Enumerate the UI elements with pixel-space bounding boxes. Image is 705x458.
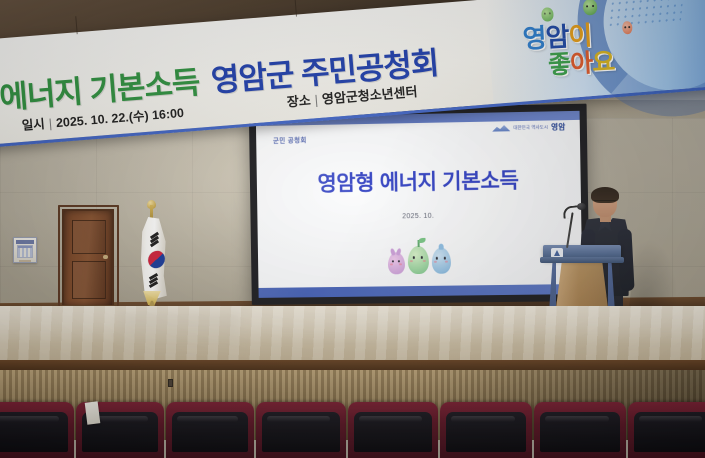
banner-separator: | — [48, 117, 52, 131]
door-knob-icon[interactable] — [103, 255, 108, 259]
mascot-cheek — [390, 263, 393, 265]
slide-logo-subtext: 대한민국 역사도시 — [513, 124, 548, 131]
mascot-green — [407, 246, 428, 274]
mascot-eye — [413, 256, 415, 259]
stage-side-door[interactable] — [62, 209, 114, 305]
audience-seat[interactable] — [348, 402, 438, 458]
audience-seat[interactable] — [534, 402, 626, 458]
seat-highlight — [639, 416, 702, 422]
door-panel-lower — [72, 261, 106, 299]
seat-highlight — [177, 416, 239, 422]
slide-county-logo: 대한민국 역사도시 영암 — [492, 121, 566, 133]
yeongam-slogan-logo: 영암이 좋아요 — [517, 0, 651, 87]
banner-date-label: 일시 — [21, 117, 45, 133]
slide-date: 2025. 10. — [257, 210, 581, 222]
eyeglasses-icon — [594, 200, 616, 205]
mascot-body — [387, 252, 404, 274]
mascot-eye — [421, 256, 423, 259]
mascot-cheek — [399, 263, 402, 265]
slide-mascot-group — [258, 244, 582, 276]
slide-kicker-label: 군민 공청회 — [273, 134, 307, 145]
mascot-body — [407, 246, 428, 274]
audience-seat[interactable] — [166, 402, 254, 458]
seat-highlight — [451, 416, 515, 422]
audience-seat[interactable] — [256, 402, 346, 458]
seat-highlight — [545, 416, 609, 422]
slogan-line-2: 좋아요 — [547, 42, 615, 82]
mascot-leaf-icon — [418, 238, 425, 243]
banner-separator: | — [314, 92, 319, 107]
mascot-blue — [431, 248, 450, 274]
logo-mascot-orange — [622, 21, 633, 35]
slogan-char: 요 — [591, 48, 614, 77]
evacuation-floor-plan-sign — [13, 237, 37, 263]
slide-logo-maintext: 영암 — [551, 121, 566, 132]
microphone-icon — [577, 203, 586, 210]
mascot-eye — [436, 257, 438, 260]
slogan-char: 영 — [522, 23, 547, 54]
audience-seating — [0, 398, 705, 458]
seat-highlight — [0, 416, 59, 422]
door-panel-upper — [72, 220, 106, 254]
mascot-eye — [443, 257, 445, 260]
audience-seat[interactable] — [628, 402, 705, 458]
banner-place-value: 영암군청소년센터 — [321, 84, 418, 107]
slogan-char: 아 — [569, 49, 592, 78]
mascot-purple — [387, 252, 404, 274]
seat-handout-paper[interactable] — [85, 401, 101, 424]
slogan-char: 좋 — [547, 50, 570, 79]
mascot-cheek — [445, 261, 448, 263]
slide-title: 영암형 에너지 기본소득 — [257, 163, 581, 198]
stage-floor-reflection — [120, 312, 240, 360]
audience-seat[interactable] — [440, 402, 532, 458]
banner-title-line: 에너지 기본소득영암군 주민공청회 — [0, 37, 440, 117]
stage-outlet-icon — [168, 379, 173, 387]
slide-bottom-band — [259, 284, 583, 298]
event-photo-scene: 군민 공청회 대한민국 역사도시 영암 영암형 에너지 기본소득 2025. 1… — [0, 0, 705, 458]
audience-seat[interactable] — [0, 402, 74, 458]
mascot-cheek — [422, 260, 425, 262]
banner-place-label: 장소 — [286, 93, 311, 110]
mountain-icon — [492, 124, 510, 131]
mascot-cheek — [410, 260, 413, 262]
seat-highlight — [267, 416, 330, 422]
sign-plan-graphic — [17, 245, 33, 258]
sign-header-bar — [16, 240, 34, 244]
mascot-eye — [392, 260, 394, 263]
mascot-cheek — [434, 261, 437, 263]
mascot-body — [431, 248, 450, 274]
logo-mascot-green-large — [583, 0, 598, 16]
stage-floor — [0, 306, 705, 368]
projection-screen: 군민 공청회 대한민국 역사도시 영암 영암형 에너지 기본소득 2025. 1… — [249, 104, 590, 305]
sign-footer-bar — [19, 260, 31, 263]
seat-highlight — [359, 416, 422, 422]
lectern-top-lip — [540, 257, 624, 263]
slide-surface: 군민 공청회 대한민국 역사도시 영암 영암형 에너지 기본소득 2025. 1… — [256, 111, 583, 298]
mascot-tuft-icon — [439, 244, 444, 250]
